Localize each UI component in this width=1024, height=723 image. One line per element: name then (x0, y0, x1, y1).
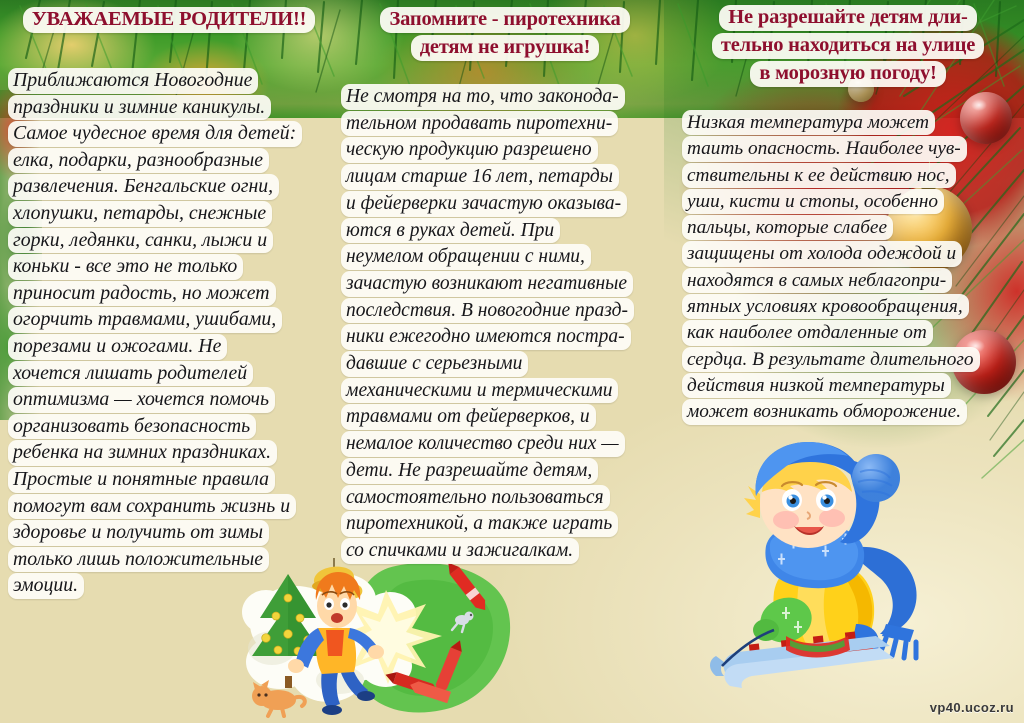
text-line: Самое чудесное время для детей: (8, 121, 302, 147)
winter-safety-poster: УВАЖАЕМЫЕ РОДИТЕЛИ!! Запомните - пиротех… (0, 0, 1024, 723)
text-line: неумелом обращении с ними, (341, 244, 591, 270)
text-line: ятных условиях кровообращения, (682, 294, 969, 319)
text-line: сердца. В результате длительного (682, 347, 980, 372)
text-line: последствия. В новогодние празд- (341, 298, 634, 324)
heading-line: Не разрешайте детям дли- (719, 5, 976, 31)
text-line: механическими и термическими (341, 378, 618, 404)
text-line: Не смотря на то, что законода- (341, 84, 625, 110)
heading-line: УВАЖАЕМЫЕ РОДИТЕЛИ!! (23, 7, 316, 33)
text-line: дети. Не разрешайте детям, (341, 458, 598, 484)
text-line: праздники и зимние каникулы. (8, 95, 271, 121)
text-line: зачастую возникают негативные (341, 271, 633, 297)
heading-line: в морозную погоду! (750, 61, 945, 87)
text-line: Простые и понятные правила (8, 467, 275, 493)
text-line: хлопушки, петарды, снежные (8, 201, 272, 227)
text-line: ческую продукцию разрешено (341, 137, 598, 163)
text-line: пальцы, которые слабее (682, 215, 893, 240)
text-column-pyrotechnics: Не смотря на то, что законода- тельном п… (341, 84, 679, 565)
text-line: огорчить травмами, ушибами, (8, 307, 282, 333)
text-line: может возникать обморожение. (682, 399, 967, 424)
heading-line: тельно находиться на улице (712, 33, 984, 59)
text-line: действия низкой температуры (682, 373, 951, 398)
text-line: травмами от фейерверков, и (341, 404, 596, 430)
text-line: Приближаются Новогодние (8, 68, 258, 94)
text-line: защищены от холода одеждой и (682, 241, 962, 266)
text-line: развлечения. Бенгальские огни, (8, 174, 279, 200)
text-line: и фейерверки зачастую оказыва- (341, 191, 627, 217)
text-line: эмоции. (8, 573, 84, 599)
text-line: самостоятельно пользоваться (341, 485, 610, 511)
text-line: приносит радость, но может (8, 281, 276, 307)
text-line: давшие с серьезными (341, 351, 528, 377)
text-line: немалое количество среди них — (341, 431, 625, 457)
text-line: уши, кисти и стопы, особенно (682, 189, 944, 214)
text-line: ются в руках детей. При (341, 218, 560, 244)
heading-pyrotechnics: Запомните - пиротехника детям не игрушка… (340, 6, 670, 62)
text-line: здоровье и получить от зимы (8, 520, 269, 546)
text-line: таить опасность. Наиболее чув- (682, 136, 967, 161)
heading-cold-weather: Не разрешайте детям дли- тельно находить… (676, 4, 1020, 88)
heading-parents: УВАЖАЕМЫЕ РОДИТЕЛИ!! (8, 6, 330, 34)
text-line: хочется лишать родителей (8, 361, 253, 387)
text-line: Низкая температура может (682, 110, 935, 135)
text-line: организовать безопасность (8, 414, 256, 440)
text-line: пиротехникой, а также играть (341, 511, 618, 537)
text-line: только лишь положительные (8, 547, 269, 573)
text-line: порезами и ожогами. Не (8, 334, 227, 360)
text-line: как наиболее отдаленные от (682, 320, 933, 345)
heading-line: Запомните - пиротехника (380, 7, 629, 33)
text-line: коньки - все это не только (8, 254, 243, 280)
site-watermark: vp40.ucoz.ru (930, 700, 1014, 715)
text-line: находятся в самых неблагопри- (682, 268, 952, 293)
text-line: тельном продавать пиротехни- (341, 111, 618, 137)
text-line: ребенка на зимних праздниках. (8, 440, 277, 466)
text-line: горки, ледянки, санки, лыжи и (8, 228, 273, 254)
text-line: ствительны к ее действию нос, (682, 163, 956, 188)
text-line: лицам старше 16 лет, петарды (341, 164, 619, 190)
text-column-cold: Низкая температура может таить опасность… (682, 110, 1020, 426)
text-line: помогут вам сохранить жизнь и (8, 494, 296, 520)
text-line: оптимизма — хочется помочь (8, 387, 275, 413)
text-line: елка, подарки, разнообразные (8, 148, 269, 174)
text-line: со спичками и зажигалкам. (341, 538, 579, 564)
text-column-holidays: Приближаются Новогодние праздники и зимн… (8, 68, 320, 600)
child-on-sled-illustration (690, 438, 962, 710)
heading-line: детям не игрушка! (411, 35, 599, 61)
text-line: ники ежегодно имеются постра- (341, 324, 631, 350)
